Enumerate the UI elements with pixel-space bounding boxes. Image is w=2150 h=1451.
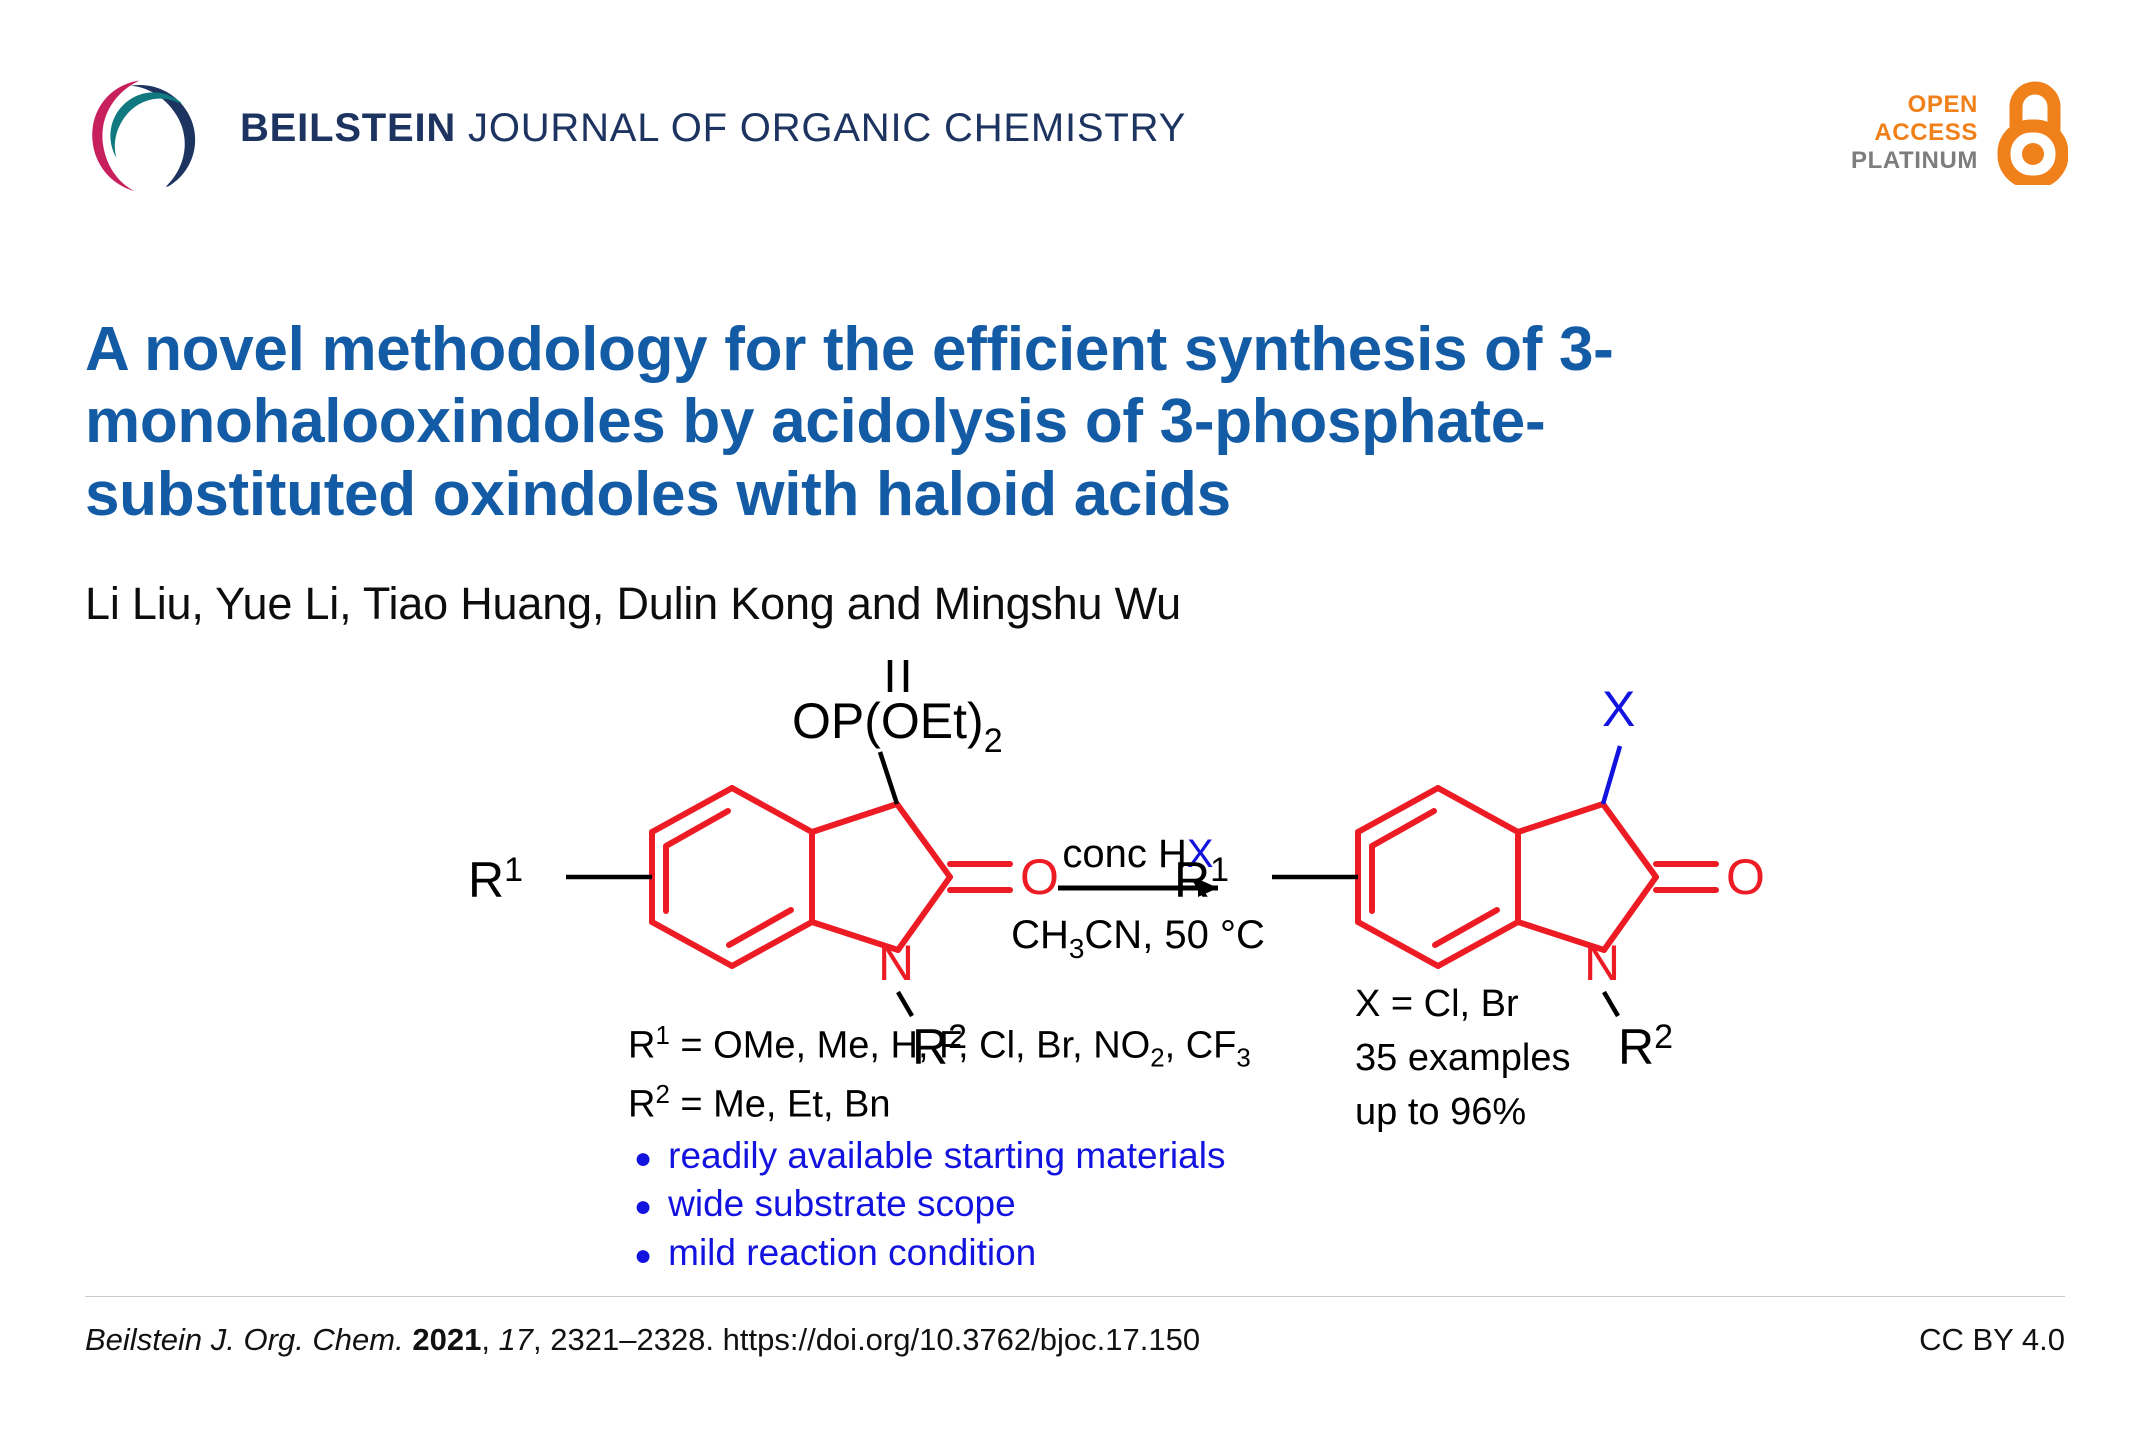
highlight-text: wide substrate scope — [668, 1180, 1016, 1228]
product-max-yield: up to 96% — [1355, 1086, 1570, 1140]
beilstein-triple-arc-logo-icon — [85, 72, 210, 197]
reactant-structure: O N R2 OP(OEt)2 O R1 — [468, 660, 1059, 1075]
product-example-count: 35 examples — [1355, 1032, 1570, 1086]
open-access-line-platinum: PLATINUM — [1851, 147, 1978, 175]
footer-citation: Beilstein J. Org. Chem. 2021, 17, 2321–2… — [85, 1322, 1200, 1358]
list-item: ● readily available starting materials — [634, 1132, 1225, 1180]
reactant-ring-nitrogen: N — [878, 935, 914, 991]
highlight-text: mild reaction condition — [668, 1229, 1036, 1277]
citation-pages-doi: , 2321–2328. https://doi.org/10.3762/bjo… — [533, 1322, 1200, 1357]
open-access-line-open: OPEN — [1851, 91, 1978, 119]
citation-year: 2021 — [412, 1322, 481, 1357]
r1-definition-line: R1 = OMe, Me, H, F, Cl, Br, NO2, CF3 — [628, 1018, 1251, 1077]
reactant-r1-label: R1 — [468, 851, 523, 908]
journal-wordmark-light: JOURNAL OF ORGANIC CHEMISTRY — [456, 106, 1186, 150]
reactant-phosphoryl-oxygen: O — [874, 660, 913, 663]
product-r1-label: R1 — [1174, 851, 1229, 908]
product-halide-definition: X = Cl, Br — [1355, 978, 1570, 1032]
author-list: Li Liu, Yue Li, Tiao Huang, Dulin Kong a… — [85, 578, 1181, 630]
reactant-carbonyl-oxygen: O — [1020, 849, 1059, 905]
open-access-line-access: ACCESS — [1851, 119, 1978, 147]
highlight-text: readily available starting materials — [668, 1132, 1225, 1180]
product-halide-label: X — [1602, 681, 1635, 737]
open-access-text: OPEN ACCESS PLATINUM — [1851, 91, 1978, 176]
product-legend: X = Cl, Br 35 examples up to 96% — [1355, 978, 1570, 1140]
open-padlock-icon — [1990, 81, 2068, 185]
open-access-badge: OPEN ACCESS PLATINUM — [1851, 78, 2068, 188]
conditions-below: CH3CN, 50 °C — [1011, 913, 1265, 964]
product-carbonyl-oxygen: O — [1726, 849, 1765, 905]
highlight-bullet-list: ● readily available starting materials ●… — [634, 1132, 1225, 1277]
citation-journal: Beilstein J. Org. Chem. — [85, 1322, 404, 1357]
bullet-dot-icon: ● — [634, 1192, 652, 1222]
citation-volume: 17 — [499, 1322, 533, 1357]
footer-divider — [85, 1296, 2065, 1297]
article-title: A novel methodology for the efficient sy… — [85, 314, 1805, 532]
product-ring-nitrogen: N — [1584, 935, 1620, 991]
list-item: ● wide substrate scope — [634, 1180, 1225, 1228]
r2-definition-line: R2 = Me, Et, Bn — [628, 1077, 1251, 1133]
journal-wordmark-bold: BEILSTEIN — [240, 106, 456, 150]
reactant-phosphate-label: OP(OEt)2 — [792, 693, 1003, 760]
license-label: CC BY 4.0 — [1919, 1322, 2065, 1358]
page-header: BEILSTEIN JOURNAL OF ORGANIC CHEMISTRY O… — [0, 0, 2150, 230]
product-r2-label: R2 — [1618, 1018, 1673, 1075]
bullet-dot-icon: ● — [634, 1144, 652, 1174]
bullet-dot-icon: ● — [634, 1241, 652, 1271]
r-group-legend: R1 = OMe, Me, H, F, Cl, Br, NO2, CF3 R2 … — [628, 1018, 1251, 1133]
list-item: ● mild reaction condition — [634, 1229, 1225, 1277]
journal-wordmark: BEILSTEIN JOURNAL OF ORGANIC CHEMISTRY — [240, 106, 1186, 151]
